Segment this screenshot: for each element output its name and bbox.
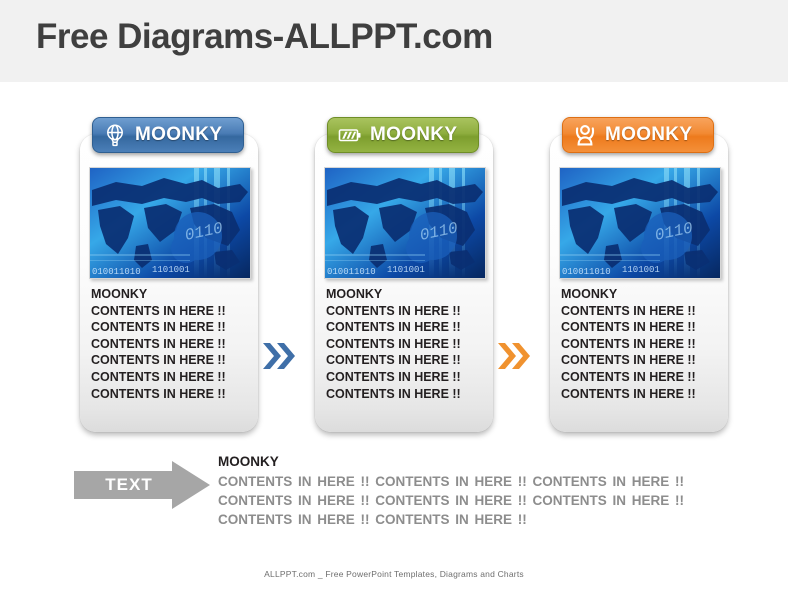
svg-text:010011010: 010011010: [327, 267, 376, 277]
content-card-1[interactable]: MOONKY: [80, 134, 258, 432]
svg-text:1101001: 1101001: [152, 265, 190, 275]
page-header-band: Free Diagrams-ALLPPT.com: [0, 0, 788, 82]
content-card-3[interactable]: MOONKY: [550, 134, 728, 432]
card-1-thumbnail[interactable]: 010011010 1101001 0110: [89, 167, 251, 279]
card-2-line-3: CONTENTS IN HERE !!: [326, 336, 485, 353]
svg-text:010011010: 010011010: [562, 267, 611, 277]
card-1-title: MOONKY: [91, 286, 250, 303]
connector-arrow-1: [262, 340, 296, 372]
card-1-line-3: CONTENTS IN HERE !!: [91, 336, 250, 353]
card-1-line-6: CONTENTS IN HERE !!: [91, 386, 250, 403]
bottom-title: MOONKY: [218, 454, 718, 469]
card-3-text-block: MOONKY CONTENTS IN HERE !! CONTENTS IN H…: [561, 286, 720, 402]
page-title: Free Diagrams-ALLPPT.com: [36, 17, 493, 57]
text-arrow-shape[interactable]: TEXT: [74, 460, 210, 510]
svg-text:010011010: 010011010: [92, 267, 141, 277]
card-3-line-4: CONTENTS IN HERE !!: [561, 352, 720, 369]
hot-air-balloon-icon: [102, 122, 128, 148]
card-2-line-2: CONTENTS IN HERE !!: [326, 319, 485, 336]
card-2-badge[interactable]: MOONKY: [327, 117, 479, 153]
battery-icon: [337, 122, 363, 148]
card-2-line-1: CONTENTS IN HERE !!: [326, 303, 485, 320]
slide-canvas: MOONKY: [0, 82, 788, 591]
bottom-text-block: MOONKY CONTENTS IN HERE !! CONTENTS IN H…: [218, 454, 718, 529]
card-3-line-1: CONTENTS IN HERE !!: [561, 303, 720, 320]
card-3-line-6: CONTENTS IN HERE !!: [561, 386, 720, 403]
card-1-line-2: CONTENTS IN HERE !!: [91, 319, 250, 336]
card-3-title: MOONKY: [561, 286, 720, 303]
card-2-line-6: CONTENTS IN HERE !!: [326, 386, 485, 403]
card-2-title: MOONKY: [326, 286, 485, 303]
svg-text:1101001: 1101001: [387, 265, 425, 275]
card-1-line-5: CONTENTS IN HERE !!: [91, 369, 250, 386]
card-1-line-4: CONTENTS IN HERE !!: [91, 352, 250, 369]
card-2-line-5: CONTENTS IN HERE !!: [326, 369, 485, 386]
card-2-badge-label: MOONKY: [370, 124, 457, 146]
card-3-line-5: CONTENTS IN HERE !!: [561, 369, 720, 386]
person-raised-arms-icon: [572, 122, 598, 148]
svg-text:1101001: 1101001: [622, 265, 660, 275]
card-3-badge-label: MOONKY: [605, 124, 692, 146]
card-3-line-2: CONTENTS IN HERE !!: [561, 319, 720, 336]
text-arrow-label: TEXT: [74, 460, 184, 510]
card-1-line-1: CONTENTS IN HERE !!: [91, 303, 250, 320]
bottom-paragraph: CONTENTS IN HERE !! CONTENTS IN HERE !! …: [218, 472, 718, 529]
card-1-text-block: MOONKY CONTENTS IN HERE !! CONTENTS IN H…: [91, 286, 250, 402]
card-1-badge-label: MOONKY: [135, 124, 222, 146]
card-3-thumbnail[interactable]: 010011010 1101001 0110: [559, 167, 721, 279]
card-2-line-4: CONTENTS IN HERE !!: [326, 352, 485, 369]
footer-credit: ALLPPT.com _ Free PowerPoint Templates, …: [0, 569, 788, 579]
card-3-line-3: CONTENTS IN HERE !!: [561, 336, 720, 353]
connector-arrow-2: [497, 340, 531, 372]
card-3-badge[interactable]: MOONKY: [562, 117, 714, 153]
card-2-text-block: MOONKY CONTENTS IN HERE !! CONTENTS IN H…: [326, 286, 485, 402]
card-2-thumbnail[interactable]: 010011010 1101001 0110: [324, 167, 486, 279]
content-card-2[interactable]: MOONKY: [315, 134, 493, 432]
card-1-badge[interactable]: MOONKY: [92, 117, 244, 153]
